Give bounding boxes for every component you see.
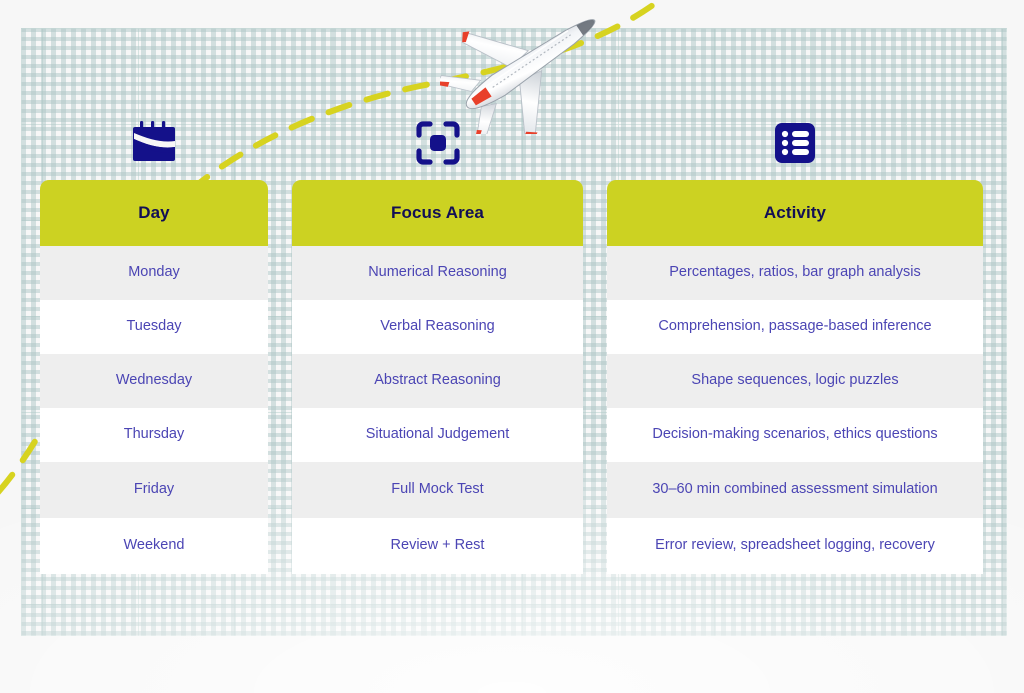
column-header-day: Day	[40, 180, 268, 246]
list-icon-wrap	[607, 112, 983, 174]
table-column-focus-area: Focus Area Numerical Reasoning Verbal Re…	[292, 180, 583, 572]
study-schedule-table: Day Monday Tuesday Wednesday Thursday Fr…	[40, 180, 983, 572]
table-row: Wednesday	[40, 354, 268, 408]
column-header-focus-area: Focus Area	[292, 180, 583, 246]
table-row: Percentages, ratios, bar graph analysis	[607, 246, 983, 300]
list-icon	[772, 120, 818, 166]
table-row: Friday	[40, 462, 268, 518]
table-row: Decision-making scenarios, ethics questi…	[607, 408, 983, 462]
table-row: Tuesday	[40, 300, 268, 354]
calendar-icon	[128, 119, 180, 167]
table-row: Error review, spreadsheet logging, recov…	[607, 518, 983, 574]
column-icons	[0, 112, 1024, 174]
table-row: Monday	[40, 246, 268, 300]
focus-target-icon	[415, 120, 461, 166]
table-row: Full Mock Test	[292, 462, 583, 518]
table-row: 30–60 min combined assessment simulation	[607, 462, 983, 518]
column-header-activity: Activity	[607, 180, 983, 246]
table-row: Review + Rest	[292, 518, 583, 574]
table-column-activity: Activity Percentages, ratios, bar graph …	[607, 180, 983, 572]
table-row: Situational Judgement	[292, 408, 583, 462]
table-row: Abstract Reasoning	[292, 354, 583, 408]
table-row: Comprehension, passage-based inference	[607, 300, 983, 354]
calendar-icon-wrap	[40, 112, 268, 174]
table-row: Weekend	[40, 518, 268, 574]
table-row: Numerical Reasoning	[292, 246, 583, 300]
table-row: Verbal Reasoning	[292, 300, 583, 354]
focus-target-icon-wrap	[292, 112, 583, 174]
table-column-day: Day Monday Tuesday Wednesday Thursday Fr…	[40, 180, 268, 572]
poster-canvas: Day Monday Tuesday Wednesday Thursday Fr…	[0, 0, 1024, 693]
table-row: Shape sequences, logic puzzles	[607, 354, 983, 408]
table-row: Thursday	[40, 408, 268, 462]
